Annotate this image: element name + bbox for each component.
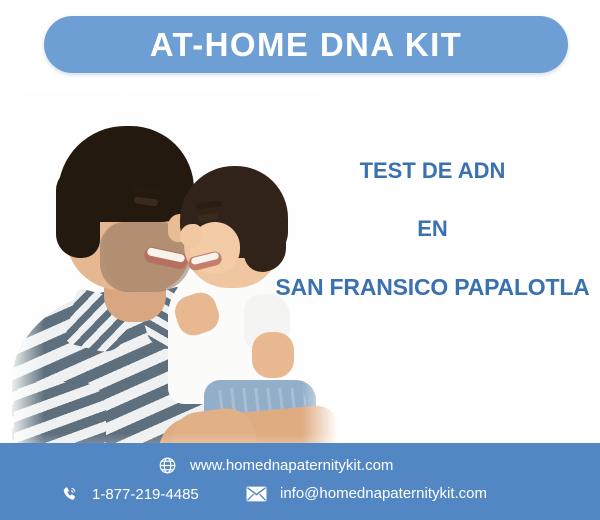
- page-title: AT-HOME DNA KIT: [150, 28, 462, 61]
- header-banner: AT-HOME DNA KIT: [44, 16, 568, 73]
- man-hair-side: [56, 168, 100, 258]
- footer-email-row[interactable]: info@homednapaternitykit.com: [246, 485, 487, 502]
- child-arm: [252, 332, 294, 378]
- envelope-icon: [246, 486, 267, 502]
- footer-website-text: www.homednapaternitykit.com: [190, 457, 393, 474]
- headline-line-service: TEST DE ADN: [265, 160, 600, 182]
- footer-phone-text: 1-877-219-4485: [92, 486, 199, 503]
- poster-canvas: AT-HOME DNA KIT: [0, 0, 600, 520]
- headline-line-connector: EN: [265, 218, 600, 240]
- footer-website-row[interactable]: www.homednapaternitykit.com: [158, 456, 393, 475]
- footer-bar: [0, 443, 600, 520]
- footer-phone-row[interactable]: 1-877-219-4485: [60, 485, 199, 504]
- footer-email-text: info@homednapaternitykit.com: [280, 485, 487, 502]
- child-nose: [180, 224, 202, 248]
- globe-icon: [158, 456, 177, 475]
- phone-icon: [60, 485, 79, 504]
- headline-line-location: SAN FRANSICO PAPALOTLA: [265, 276, 600, 299]
- headline-block: TEST DE ADN EN SAN FRANSICO PAPALOTLA: [265, 160, 600, 299]
